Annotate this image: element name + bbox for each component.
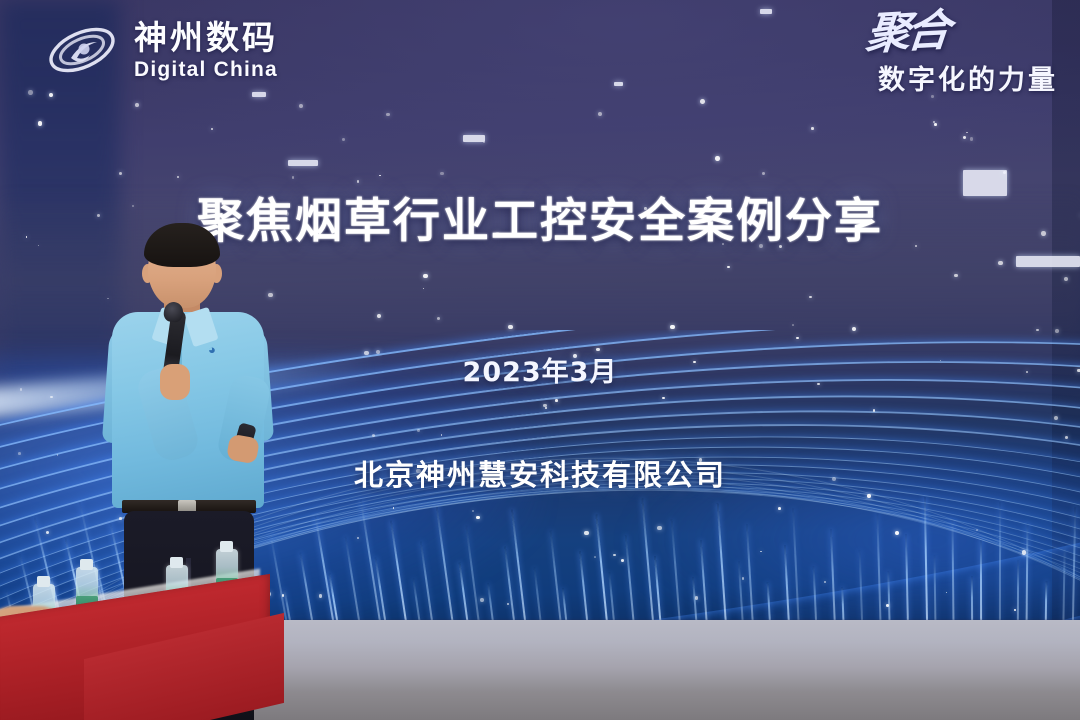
- logo-chinese-name: 神州数码: [134, 21, 278, 54]
- wave-fan-line: [999, 502, 1001, 630]
- presenter-shirt-badge: ◕: [208, 342, 230, 358]
- screen-speck: [614, 82, 623, 86]
- particle-dot: [963, 136, 966, 139]
- particle-dot: [852, 327, 856, 331]
- presenter-left-hand: [160, 364, 190, 400]
- particle-dot: [886, 604, 889, 607]
- particle-dot: [135, 103, 139, 107]
- slogan-sub-text: 数字化的力量: [788, 58, 1058, 97]
- bottle-cap: [37, 576, 50, 587]
- particle-dot: [357, 537, 358, 538]
- screen-speck: [760, 9, 772, 14]
- particle-dot: [715, 156, 720, 161]
- particle-dot: [507, 603, 509, 605]
- particle-dot: [670, 325, 675, 330]
- digital-china-logo: 神州数码 Digital China: [44, 18, 278, 82]
- logo-text-block: 神州数码 Digital China: [134, 21, 278, 80]
- particle-dot: [1036, 329, 1038, 331]
- bottle-cap: [80, 559, 93, 570]
- screen-speck: [1016, 256, 1080, 267]
- particle-dot: [472, 510, 474, 512]
- logo-english-name: Digital China: [134, 59, 278, 80]
- particle-dot: [584, 531, 588, 535]
- bottle-cap: [170, 557, 183, 568]
- digital-china-swirl-icon: [44, 18, 120, 82]
- particle-dot: [319, 594, 322, 597]
- slogan-brush-text: 聚合: [786, 10, 949, 60]
- particle-dot: [1065, 436, 1068, 439]
- particle-dot: [177, 176, 179, 178]
- screen-speck: [252, 92, 266, 97]
- particle-dot: [895, 531, 899, 535]
- particle-dot: [1022, 550, 1027, 555]
- particle-dot: [555, 399, 558, 402]
- particle-dot: [970, 137, 973, 140]
- screen-speck: [463, 135, 485, 142]
- particle-dot: [28, 90, 33, 95]
- screen-speck: [288, 160, 318, 166]
- particle-dot: [811, 127, 814, 130]
- particle-dot: [934, 123, 937, 126]
- particle-dot: [423, 274, 428, 279]
- particle-dot: [867, 494, 870, 497]
- particle-dot: [594, 556, 596, 558]
- particle-dot: [657, 526, 661, 530]
- stage-scene: 聚焦烟草行业工控安全案例分享 2023年3月 北京神州慧安科技有限公司 神州数码…: [0, 0, 1080, 720]
- bottle-cap: [220, 541, 233, 552]
- particle-dot: [998, 261, 1002, 265]
- particle-dot: [796, 337, 798, 339]
- particle-dot: [480, 598, 484, 602]
- particle-dot: [50, 396, 52, 398]
- event-slogan: 聚合 数字化的力量: [788, 14, 1058, 97]
- particle-dot: [727, 266, 729, 268]
- particle-dot: [695, 596, 698, 599]
- particle-dot: [598, 112, 602, 116]
- particle-dot: [1055, 329, 1059, 333]
- particle-dot: [440, 172, 444, 176]
- presenter-hair: [144, 223, 220, 267]
- particle-dot: [393, 507, 394, 508]
- particle-dot: [508, 325, 512, 329]
